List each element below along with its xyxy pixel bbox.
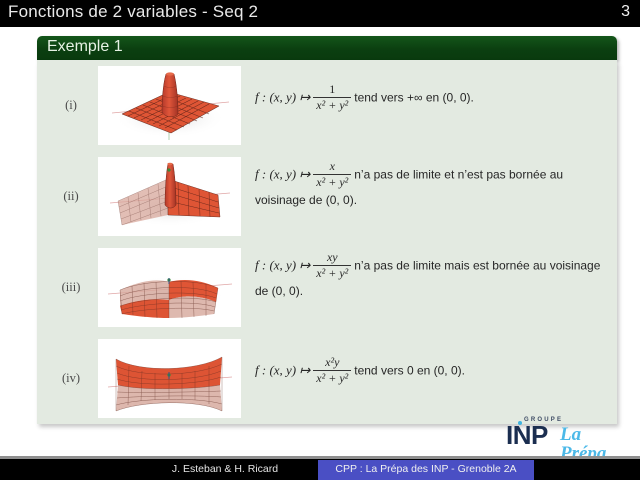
fraction-denominator-iv: x² + y² [313,370,351,386]
formula-i: f : (x, y) ↦1x² + y²tend vers +∞ en (0, … [255,84,607,113]
fraction-denominator-ii: x² + y² [313,174,351,190]
formula-iii: f : (x, y) ↦xyx² + y²n’a pas de limite m… [255,252,607,302]
fraction-numerator-iv: x²y [313,356,351,370]
fraction-iii: xyx² + y² [313,251,351,280]
item-label-ii: (ii) [49,189,93,204]
fraction-iv: x²yx² + y² [313,356,351,385]
formula-ii: f : (x, y) ↦xx² + y²n’a pas de limite et… [255,161,607,211]
fraction-numerator-iii: xy [313,251,351,265]
example-block-title: Exemple 1 [47,38,123,56]
example-row: (i) [37,60,617,151]
plot-svg-iii [98,248,241,327]
item-label-iv: (iv) [49,371,93,386]
example-row: (iii) [37,242,617,333]
formula-text-i: tend vers +∞ en (0, 0). [354,91,474,105]
surface-plot-x-over-r-squared [98,157,241,236]
footer-authors: J. Esteban & H. Ricard [132,460,318,480]
inp-la-prepa-logo: GROUPE INP La Prépa [498,416,628,458]
slide-footer-bar: J. Esteban & H. Ricard CPP : La Prépa de… [0,459,640,480]
fraction-i: 1x² + y² [313,83,351,112]
fraction-ii: xx² + y² [313,160,351,189]
item-label-iii: (iii) [49,280,93,295]
plot-svg-iv [98,339,241,418]
plot-svg-i [98,66,241,145]
surface-plot-xy-over-r-squared [98,248,241,327]
surface-plot-inverse-r-squared [98,66,241,145]
example-row: (ii) [37,151,617,242]
logo-inp-text: INP [506,422,548,448]
formula-iv: f : (x, y) ↦x²yx² + y²tend vers 0 en (0,… [255,357,607,386]
example-row: (iv) [37,333,617,424]
formula-mapping-iii: f : (x, y) ↦ [255,258,310,273]
formula-mapping-i: f : (x, y) ↦ [255,90,310,105]
presentation-slide: Fonctions de 2 variables - Seq 2 3 Exemp… [0,0,640,480]
fraction-denominator-iii: x² + y² [313,265,351,281]
plot-svg-ii [98,157,241,236]
slide-header-bar: Fonctions de 2 variables - Seq 2 3 [0,0,640,27]
footer-course: CPP : La Prépa des INP - Grenoble 2A [318,460,534,480]
fraction-denominator-i: x² + y² [313,97,351,113]
fraction-numerator-ii: x [313,160,351,174]
example-block-body: (i) [37,60,617,424]
fraction-numerator-i: 1 [313,83,351,97]
formula-mapping-ii: f : (x, y) ↦ [255,167,310,182]
example-block-title-bar: Exemple 1 [37,36,617,60]
surface-plot-x2y-over-r-squared [98,339,241,418]
formula-mapping-iv: f : (x, y) ↦ [255,363,310,378]
item-label-i: (i) [49,98,93,113]
page-number: 3 [621,3,630,21]
example-block: Exemple 1 (i) [37,36,617,424]
page-title: Fonctions de 2 variables - Seq 2 [8,2,258,22]
formula-text-iv: tend vers 0 en (0, 0). [354,364,465,378]
